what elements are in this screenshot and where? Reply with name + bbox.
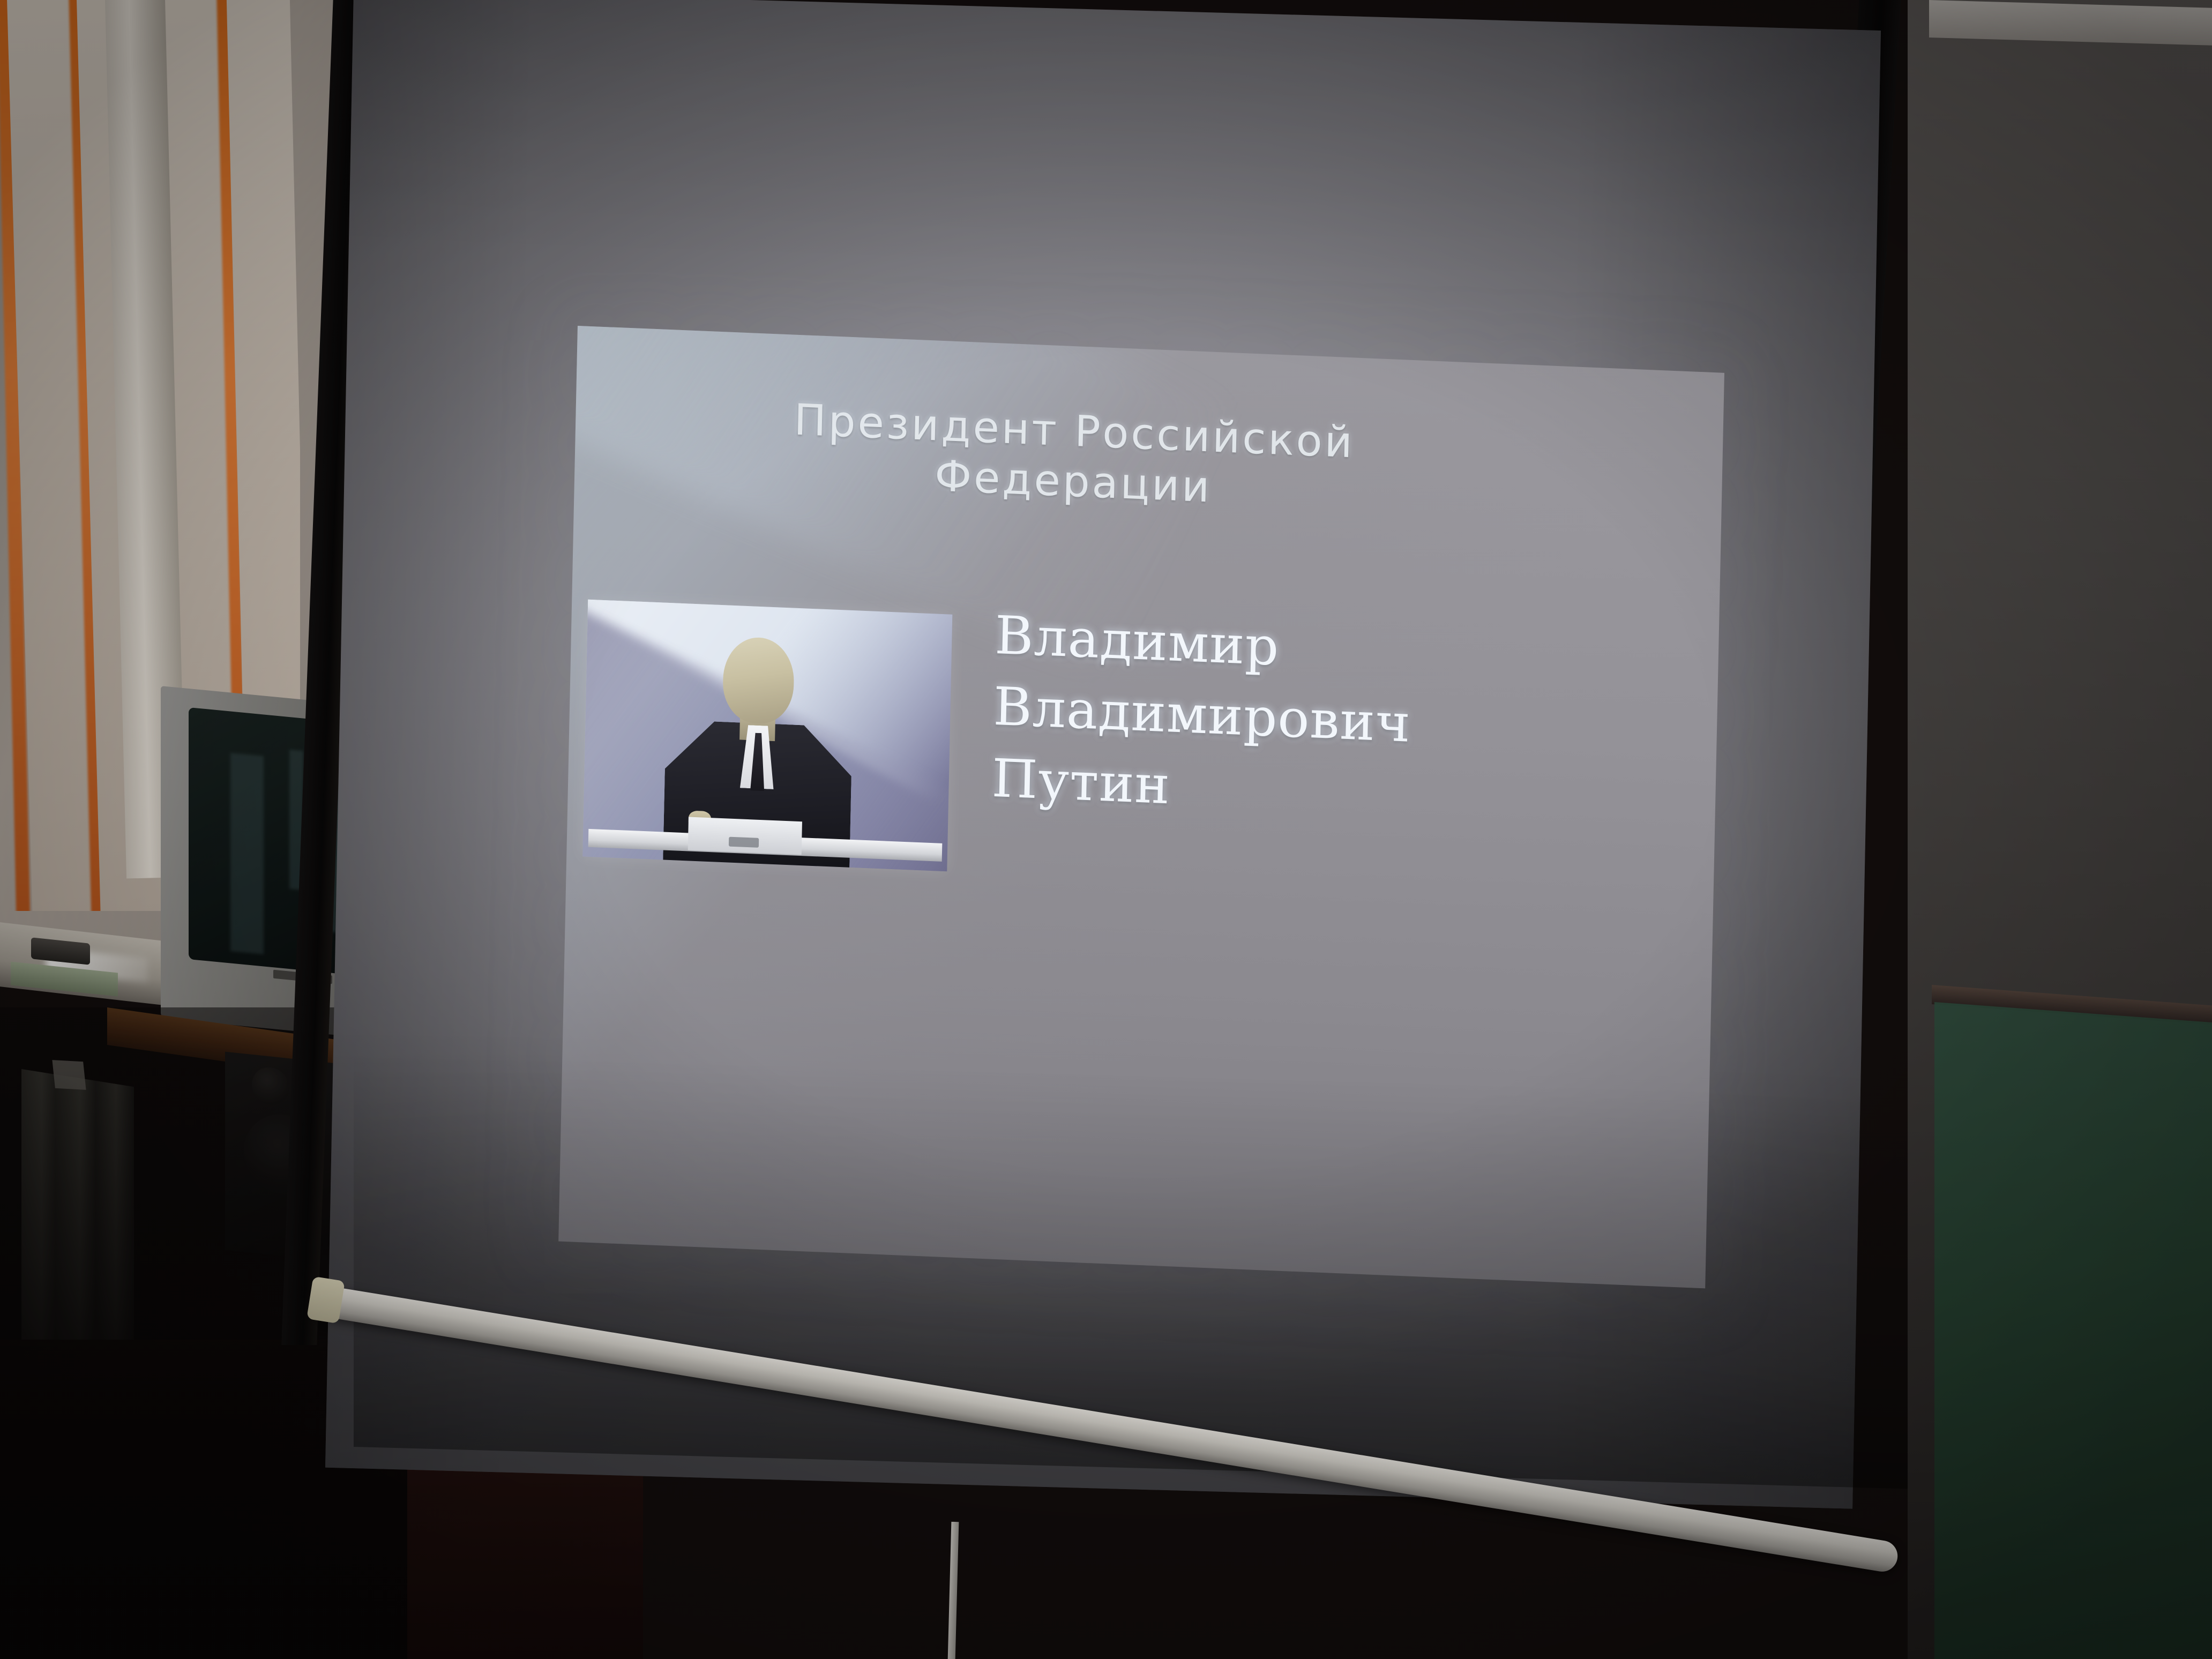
projected-slide: Президент Российской Федерации Владимир … bbox=[558, 326, 1724, 1288]
tv-reflection-1 bbox=[230, 753, 264, 954]
photo-scene: Президент Российской Федерации Владимир … bbox=[0, 0, 2212, 1659]
screen-roller-end-cap bbox=[307, 1276, 345, 1324]
slide-photo bbox=[582, 600, 952, 871]
chalkboard bbox=[1934, 1002, 2212, 1659]
slide-name-block: Владимир Владимирович Путин bbox=[991, 600, 1671, 842]
screen-support-leg bbox=[948, 1522, 959, 1659]
photo-podium-front bbox=[688, 817, 802, 855]
ceiling-strip bbox=[1929, 0, 2212, 46]
photo-podium-emblem bbox=[729, 837, 759, 848]
